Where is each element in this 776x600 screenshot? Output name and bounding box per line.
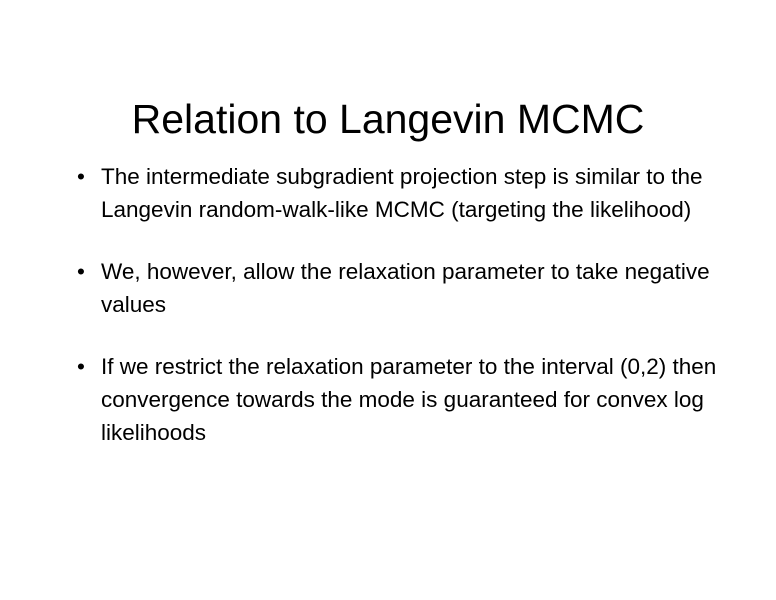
bullet-item-2: • We, however, allow the relaxation para… — [70, 255, 720, 321]
bullet-item-3-text: If we restrict the relaxation parameter … — [101, 350, 720, 449]
bullet-item-2-text: We, however, allow the relaxation parame… — [101, 255, 720, 321]
bullet-point-icon: • — [77, 255, 91, 288]
bullet-point-icon: • — [77, 350, 91, 383]
slide-title: Relation to Langevin MCMC — [0, 95, 776, 143]
bullet-point-icon: • — [77, 160, 91, 193]
presentation-slide: Relation to Langevin MCMC • The intermed… — [0, 0, 776, 600]
bullet-item-1-text: The intermediate subgradient projection … — [101, 160, 720, 226]
bullet-item-3: • If we restrict the relaxation paramete… — [70, 350, 720, 449]
slide-body-bullet-list: • The intermediate subgradient projectio… — [70, 160, 720, 449]
bullet-item-1: • The intermediate subgradient projectio… — [70, 160, 720, 226]
